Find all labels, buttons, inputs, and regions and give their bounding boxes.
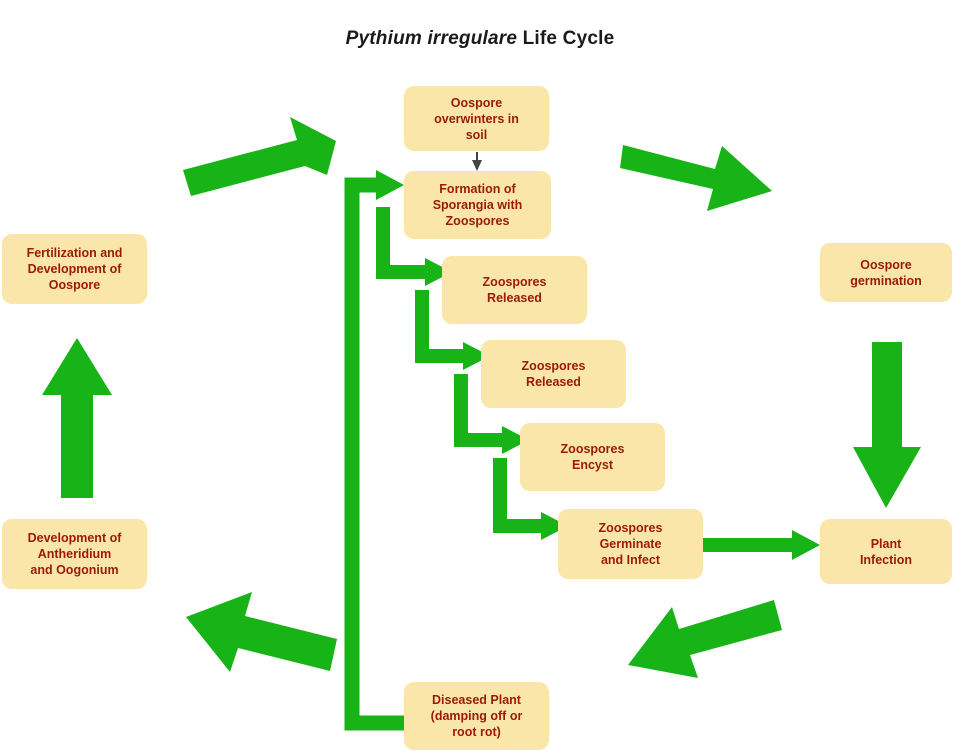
node-diseased-plant[interactable]: Diseased Plant (damping off or root rot) — [404, 682, 549, 750]
arrow-diseased-to-fertilization — [186, 592, 337, 672]
node-plant-infection[interactable]: Plant Infection — [820, 519, 952, 584]
arrow-germination-to-infection — [853, 342, 921, 508]
node-fertilization[interactable]: Fertilization and Development of Oospore — [2, 234, 147, 304]
node-zoospores-released-2[interactable]: Zoospores Released — [481, 340, 626, 408]
node-oospore-germination[interactable]: Oospore germination — [820, 243, 952, 302]
life-cycle-diagram: Pythium irregulare Life Cycle — [0, 0, 960, 750]
node-zoospores-released-1[interactable]: Zoospores Released — [442, 256, 587, 324]
arrow-formation-to-germination — [620, 145, 772, 211]
arrow-oospore-to-formation — [472, 152, 482, 171]
arrow-antheridium-to-fertilization — [42, 338, 112, 498]
node-oospore-overwinters[interactable]: Oospore overwinters in soil — [404, 86, 549, 151]
node-zoospores-germinate[interactable]: Zoospores Germinate and Infect — [558, 509, 703, 579]
arrow-fertilization-to-formation — [183, 117, 336, 196]
node-formation-sporangia[interactable]: Formation of Sporangia with Zoospores — [404, 171, 551, 239]
arrow-germinate-to-infection — [703, 530, 820, 560]
node-zoospores-encyst[interactable]: Zoospores Encyst — [520, 423, 665, 491]
arrow-infection-to-diseased — [628, 600, 782, 678]
node-antheridium[interactable]: Development of Antheridium and Oogonium — [2, 519, 147, 589]
